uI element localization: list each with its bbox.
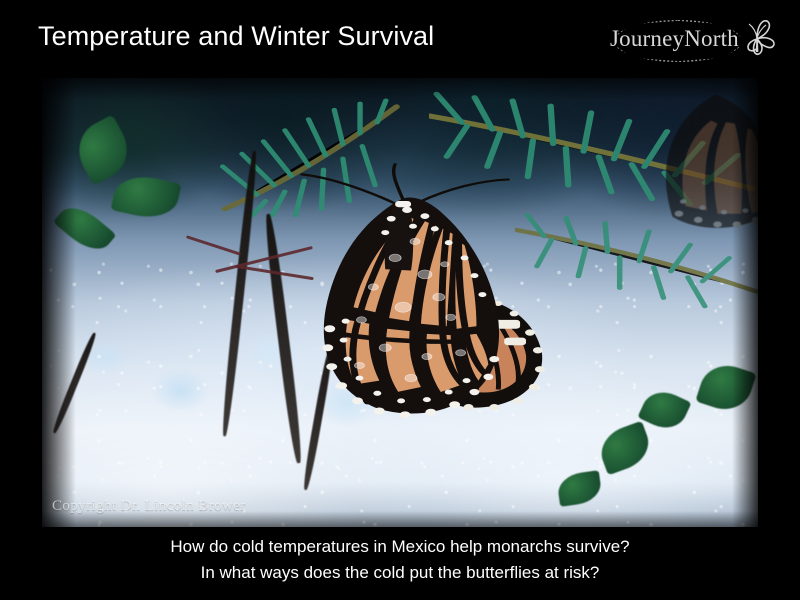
- butterfly-icon: [740, 19, 776, 57]
- slide-canvas: Temperature and Winter Survival JourneyN…: [0, 0, 800, 600]
- brand-wordmark: JourneyNorth: [610, 26, 739, 52]
- caption-line-1: How do cold temperatures in Mexico help …: [0, 534, 800, 560]
- caption-block: How do cold temperatures in Mexico help …: [0, 534, 800, 586]
- monarch-butterfly-background: [651, 87, 758, 240]
- slide-photo: Copyright Dr. Lincoln Brower: [42, 78, 758, 527]
- page-title: Temperature and Winter Survival: [38, 19, 434, 53]
- monarch-butterfly-main: [300, 163, 558, 441]
- photo-credit: Copyright Dr. Lincoln Brower: [52, 497, 246, 515]
- journey-north-logo[interactable]: JourneyNorth: [606, 17, 776, 61]
- caption-line-2: In what ways does the cold put the butte…: [0, 560, 800, 586]
